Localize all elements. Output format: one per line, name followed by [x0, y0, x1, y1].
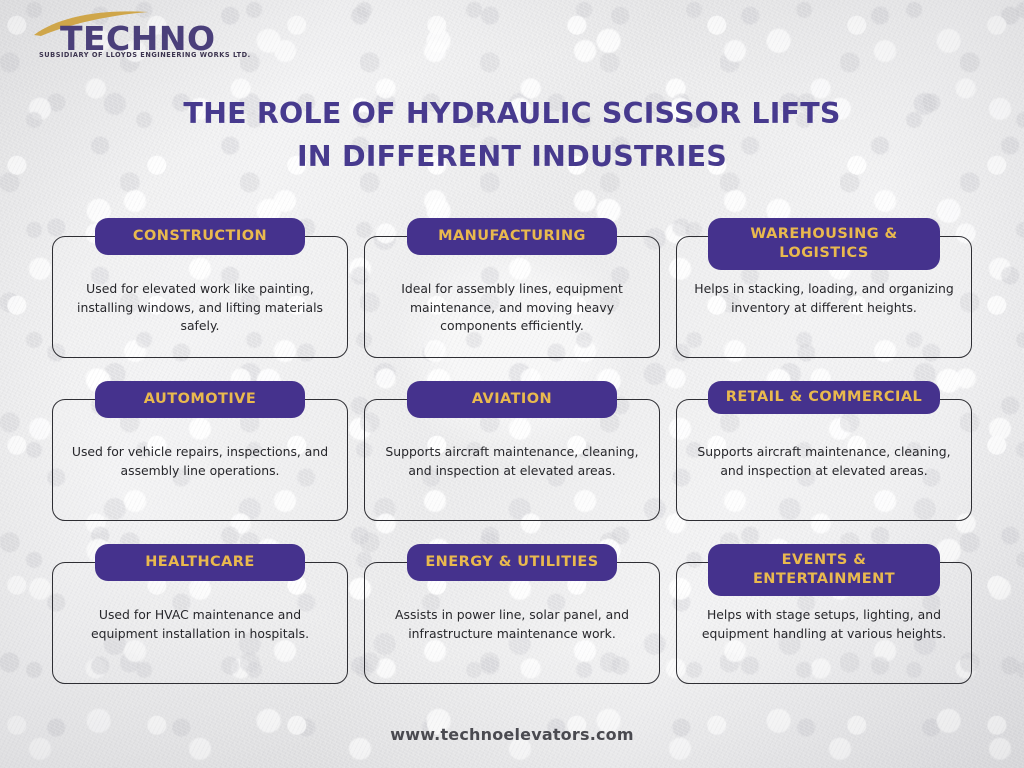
card-heading-automotive: AUTOMOTIVE — [95, 381, 305, 418]
industry-card-healthcare: HEALTHCARE Used for HVAC maintenance and… — [52, 544, 348, 684]
card-description-aviation: Supports aircraft maintenance, cleaning,… — [376, 443, 648, 480]
page-title: THE ROLE OF HYDRAULIC SCISSOR LIFTS IN D… — [0, 92, 1024, 178]
industry-card-automotive: AUTOMOTIVE Used for vehicle repairs, ins… — [52, 381, 348, 521]
industry-card-warehousing-logistics: WAREHOUSING & LOGISTICS Helps in stackin… — [676, 218, 972, 358]
card-heading-aviation: AVIATION — [407, 381, 617, 418]
page-title-line-1: THE ROLE OF HYDRAULIC SCISSOR LIFTS — [0, 92, 1024, 135]
card-description-warehousing-logistics: Helps in stacking, loading, and organizi… — [688, 280, 960, 317]
card-description-energy-utilities: Assists in power line, solar panel, and … — [376, 606, 648, 643]
industry-card-grid: CONSTRUCTION Used for elevated work like… — [52, 218, 972, 688]
techno-logo: TECHNO SUBSIDIARY OF LLOYDS ENGINEERING … — [22, 9, 252, 65]
card-heading-healthcare: HEALTHCARE — [95, 544, 305, 581]
card-heading-retail-commercial: RETAIL & COMMERCIAL — [708, 381, 940, 414]
industry-card-manufacturing: MANUFACTURING Ideal for assembly lines, … — [364, 218, 660, 358]
card-heading-events-entertainment: EVENTS & ENTERTAINMENT — [708, 544, 940, 596]
industry-card-retail-commercial: RETAIL & COMMERCIAL Supports aircraft ma… — [676, 381, 972, 521]
card-heading-energy-utilities: ENERGY & UTILITIES — [407, 544, 617, 581]
card-description-manufacturing: Ideal for assembly lines, equipment main… — [376, 280, 648, 336]
industry-card-events-entertainment: EVENTS & ENTERTAINMENT Helps with stage … — [676, 544, 972, 684]
card-heading-manufacturing: MANUFACTURING — [407, 218, 617, 255]
card-description-automotive: Used for vehicle repairs, inspections, a… — [64, 443, 336, 480]
card-description-healthcare: Used for HVAC maintenance and equipment … — [64, 606, 336, 643]
industry-card-aviation: AVIATION Supports aircraft maintenance, … — [364, 381, 660, 521]
card-description-retail-commercial: Supports aircraft maintenance, cleaning,… — [688, 443, 960, 480]
card-description-events-entertainment: Helps with stage setups, lighting, and e… — [688, 606, 960, 643]
card-description-construction: Used for elevated work like painting, in… — [64, 280, 336, 336]
card-heading-construction: CONSTRUCTION — [95, 218, 305, 255]
page-title-line-2: IN DIFFERENT INDUSTRIES — [0, 135, 1024, 178]
industry-card-energy-utilities: ENERGY & UTILITIES Assists in power line… — [364, 544, 660, 684]
logo-subtitle: SUBSIDIARY OF LLOYDS ENGINEERING WORKS L… — [39, 51, 251, 59]
infographic-page: TECHNO SUBSIDIARY OF LLOYDS ENGINEERING … — [0, 0, 1024, 768]
footer-website[interactable]: www.technoelevators.com — [0, 725, 1024, 744]
card-heading-warehousing-logistics: WAREHOUSING & LOGISTICS — [708, 218, 940, 270]
industry-card-construction: CONSTRUCTION Used for elevated work like… — [52, 218, 348, 358]
